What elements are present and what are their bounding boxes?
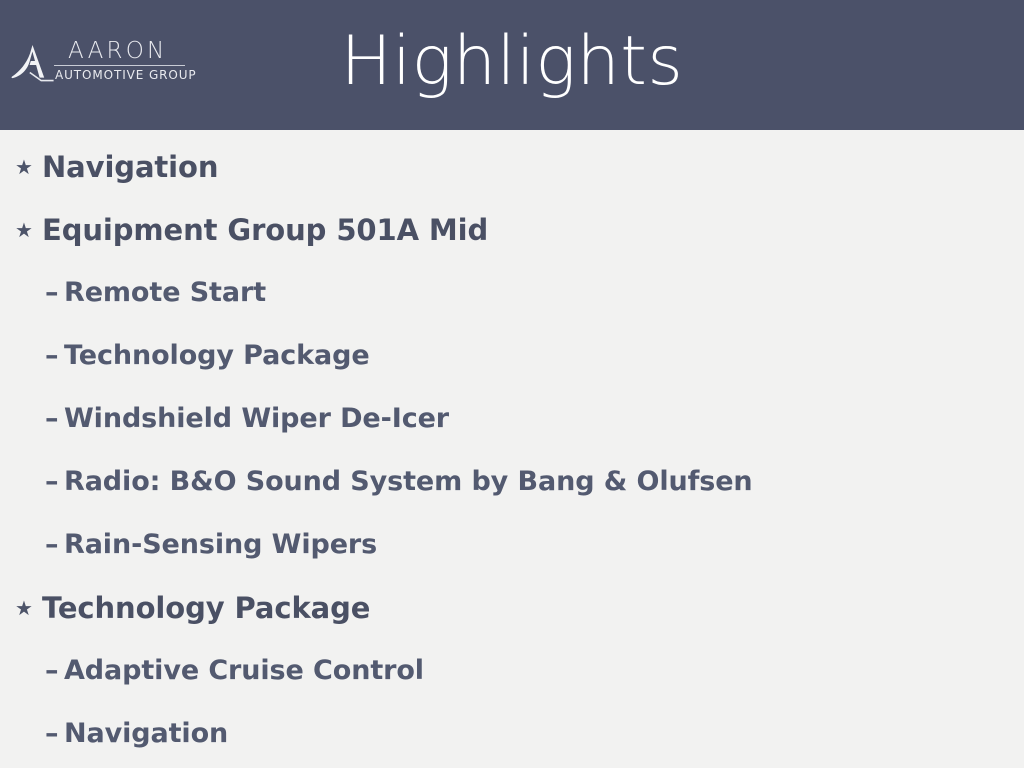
- list-item: ★Navigation: [0, 135, 1024, 198]
- dash-bullet-icon: –: [45, 342, 64, 369]
- star-bullet-icon: ★: [15, 598, 42, 618]
- dash-bullet-icon: –: [45, 279, 64, 306]
- dash-bullet-icon: –: [45, 531, 64, 558]
- dash-bullet-icon: –: [45, 468, 64, 495]
- page-title: Highlights: [0, 12, 1024, 112]
- list-item-label: Navigation: [64, 718, 228, 750]
- list-item-label: Adaptive Cruise Control: [64, 655, 424, 687]
- list-item-label: Radio: B&O Sound System by Bang & Olufse…: [64, 466, 753, 498]
- list-item: –Windshield Wiper De-Icer: [0, 387, 1024, 450]
- dash-bullet-icon: –: [45, 720, 64, 747]
- list-item-label: Navigation: [42, 150, 218, 184]
- list-item: –Navigation: [0, 702, 1024, 765]
- dash-bullet-icon: –: [45, 405, 64, 432]
- list-item: –Technology Package: [0, 324, 1024, 387]
- star-bullet-icon: ★: [15, 157, 42, 177]
- list-item: –Adaptive Cruise Control: [0, 639, 1024, 702]
- list-item: ★Technology Package: [0, 576, 1024, 639]
- list-item-label: Technology Package: [64, 340, 370, 372]
- highlights-list: ★Navigation★Equipment Group 501A Mid–Rem…: [0, 130, 1024, 768]
- list-item-label: Remote Start: [64, 277, 266, 309]
- list-item: ★Equipment Group 501A Mid: [0, 198, 1024, 261]
- list-item-label: Rain-Sensing Wipers: [64, 529, 377, 561]
- slide-header: AARON AUTOMOTIVE GROUP Highlights: [0, 0, 1024, 130]
- list-item-label: Technology Package: [42, 591, 370, 625]
- list-item: –Remote Start: [0, 261, 1024, 324]
- list-item-label: Windshield Wiper De-Icer: [64, 403, 449, 435]
- dash-bullet-icon: –: [45, 657, 64, 684]
- list-item: –Radio: B&O Sound System by Bang & Olufs…: [0, 450, 1024, 513]
- list-item-label: Equipment Group 501A Mid: [42, 213, 488, 247]
- list-item: –Rain-Sensing Wipers: [0, 513, 1024, 576]
- star-bullet-icon: ★: [15, 220, 42, 240]
- slide: AARON AUTOMOTIVE GROUP Highlights ★Navig…: [0, 0, 1024, 768]
